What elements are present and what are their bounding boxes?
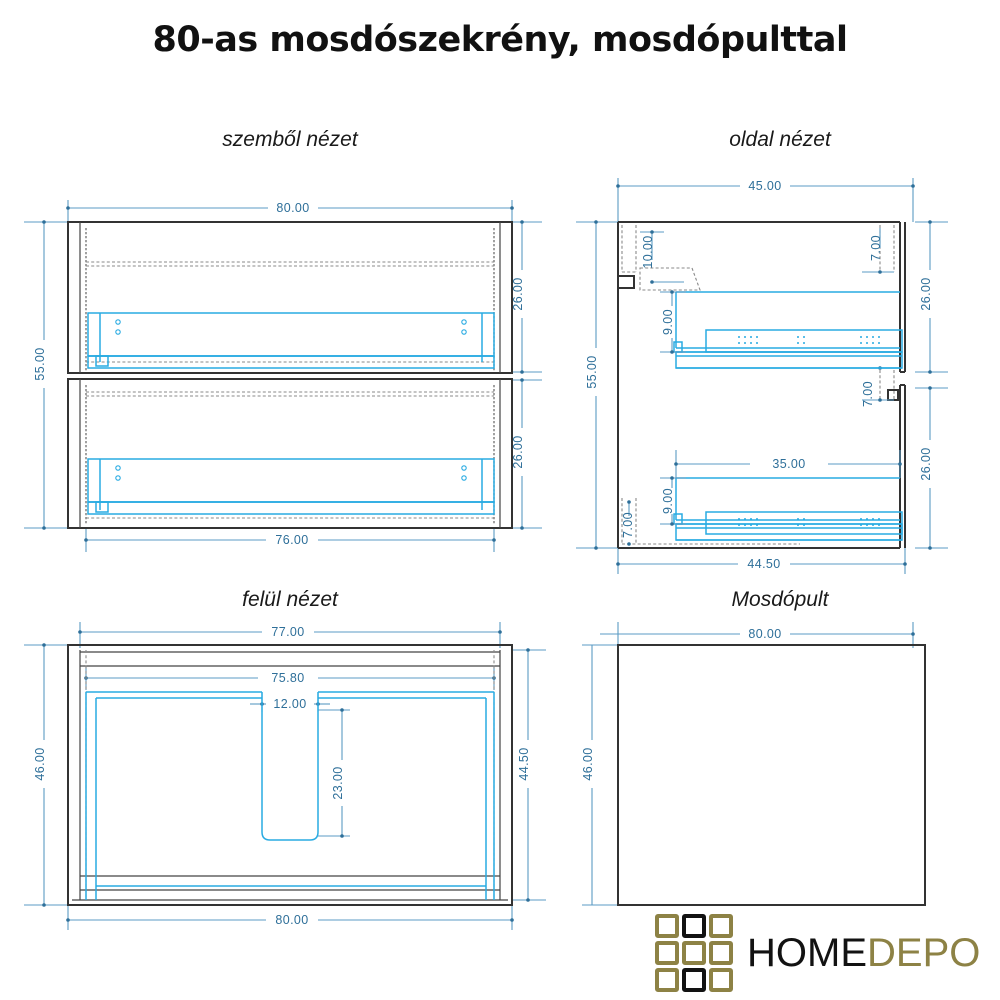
dim-label-top-77: 77.00 (271, 625, 304, 639)
side-upper-drawer (660, 290, 902, 368)
front-dim-26-upper (512, 220, 542, 374)
dim-label-counter-80: 80.00 (748, 627, 781, 641)
top-dim-4450-right (512, 648, 546, 902)
logo-cell-3 (709, 914, 733, 938)
top-dim-46-left (24, 643, 68, 907)
logo-cell-5 (682, 941, 706, 965)
top-dim-23 (318, 708, 350, 838)
dim-label-top-7580: 75.80 (271, 671, 304, 685)
counter-view-drawing (582, 622, 925, 905)
dim-label-side-7-bottom: 7.00 (621, 512, 635, 538)
side-dim-55-left (576, 220, 618, 550)
counter-dim-80 (600, 622, 915, 648)
front-upper-drawer (88, 313, 494, 368)
dim-label-side-7-top: 7.00 (869, 235, 883, 261)
view-title-front: szemből nézet (110, 128, 470, 152)
top-dim-12 (250, 693, 330, 712)
side-dim-4450-bottom (616, 548, 907, 574)
dim-label-top-4450: 44.50 (517, 747, 531, 780)
counter-dim-46 (582, 645, 622, 905)
counter-top-rect (618, 645, 925, 905)
side-bracket-mid-right (862, 366, 898, 402)
logo-cell-1 (655, 914, 679, 938)
side-bracket-top-right (862, 225, 894, 274)
technical-drawing-page: 80-as mosdószekrény, mosdópulttal szembő… (0, 0, 1000, 1000)
homedepo-logo[interactable]: HOMEDEPO (655, 912, 985, 994)
front-view-drawing (24, 200, 542, 552)
dim-label-side-55: 55.00 (585, 355, 599, 388)
side-lower-drawer (660, 450, 902, 540)
dim-label-top-80: 80.00 (275, 913, 308, 927)
dim-label-side-7-mid: 7.00 (861, 381, 875, 407)
view-title-counter: Mosdópult (620, 588, 940, 612)
logo-cell-8 (682, 968, 706, 992)
side-view-drawing (576, 178, 948, 574)
front-dim-26-lower (512, 378, 542, 530)
top-view-cutout (262, 692, 318, 840)
dim-label-side-9-lower: 9.00 (661, 488, 675, 514)
side-dim-45-top (616, 178, 915, 222)
dim-label-side-10: 10.00 (641, 235, 655, 268)
side-wall-bracket (618, 225, 700, 290)
logo-text-depo: DEPO (867, 931, 980, 975)
front-dim-80-top (66, 200, 514, 222)
dim-label-front-26-lower: 26.00 (511, 435, 525, 468)
dim-label-side-26-lower: 26.00 (919, 447, 933, 480)
logo-cell-7 (655, 968, 679, 992)
side-bracket-bottom-left (622, 498, 800, 546)
side-dim-26-lower (915, 386, 948, 550)
page-title: 80-as mosdószekrény, mosdópulttal (0, 20, 1000, 60)
logo-wordmark: HOMEDEPO (747, 931, 980, 976)
dim-label-front-80: 80.00 (276, 201, 309, 215)
dim-label-top-23: 23.00 (331, 766, 345, 799)
logo-cell-2 (682, 914, 706, 938)
top-dim-7580 (84, 666, 496, 690)
dim-label-side-26-upper: 26.00 (919, 277, 933, 310)
logo-grid-icon (655, 914, 733, 992)
logo-text-home: HOME (747, 931, 867, 975)
front-dim-76-bottom (84, 528, 496, 552)
dim-label-side-35: 35.00 (772, 457, 805, 471)
logo-cell-9 (709, 968, 733, 992)
dim-label-counter-46: 46.00 (581, 747, 595, 780)
dim-label-side-9-upper: 9.00 (661, 309, 675, 335)
dim-label-top-12: 12.00 (273, 697, 306, 711)
dim-label-top-46: 46.00 (33, 747, 47, 780)
front-dim-55-left (24, 220, 68, 530)
dim-label-side-4450: 44.50 (747, 557, 780, 571)
logo-cell-4 (655, 941, 679, 965)
side-dim-26-upper (915, 220, 948, 374)
dim-label-front-26-upper: 26.00 (511, 277, 525, 310)
top-dim-77 (78, 622, 502, 648)
view-title-side: oldal nézet (620, 128, 940, 152)
dim-label-front-55: 55.00 (33, 347, 47, 380)
top-dim-80-bottom (66, 905, 514, 930)
top-view-drawing (24, 622, 546, 930)
front-lower-drawer (88, 459, 494, 514)
dim-label-side-45: 45.00 (748, 179, 781, 193)
logo-cell-6 (709, 941, 733, 965)
view-title-top: felül nézet (110, 588, 470, 612)
dim-label-front-76: 76.00 (275, 533, 308, 547)
